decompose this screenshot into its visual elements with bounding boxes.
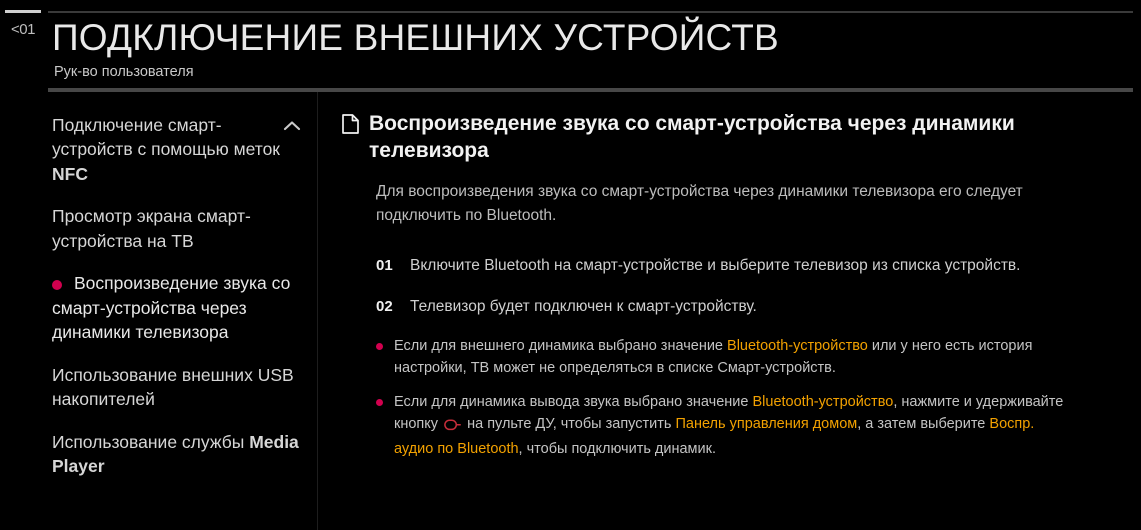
sidebar-item-1[interactable]: Подключение смарт-устройств с помощью ме… xyxy=(52,104,300,196)
sidebar-item-label: Использование внешних USB накопителей xyxy=(52,365,294,410)
numbered-steps: 01Включите Bluetooth на смарт-устройстве… xyxy=(376,254,1105,318)
back-chip-rule xyxy=(5,10,41,13)
article-content: Воспроизведение звука со смарт-устройств… xyxy=(318,92,1141,530)
remote-home-button-icon xyxy=(444,418,461,440)
highlighted-term: Bluetooth-устройство xyxy=(753,394,894,410)
page-title: ПОДКЛЮЧЕНИЕ ВНЕШНИХ УСТРОЙСТВ xyxy=(52,19,779,58)
step-item: 01Включите Bluetooth на смарт-устройстве… xyxy=(376,254,1105,277)
step-item: 02Телевизор будет подключен к смарт-устр… xyxy=(376,295,1105,318)
step-number: 02 xyxy=(376,295,396,318)
sidebar-item-5[interactable]: Использование службы Media Player xyxy=(52,421,300,488)
note-list: Если для внешнего динамика выбрано значе… xyxy=(376,336,1105,461)
note-bullet-dot xyxy=(376,343,383,350)
sidebar-nav[interactable]: устройствПодключение смарт-устройств с п… xyxy=(0,92,318,530)
back-nav-label: <01 xyxy=(11,21,35,38)
article-title: Воспроизведение звука со смарт-устройств… xyxy=(369,110,1069,164)
article-heading: Воспроизведение звука со смарт-устройств… xyxy=(342,110,1105,164)
back-navigation-chip[interactable]: <01 xyxy=(0,0,46,84)
sidebar-item-label: Подключение смарт-устройств с помощью ме… xyxy=(52,115,280,184)
note-item: Если для динамика вывода звука выбрано з… xyxy=(376,392,1105,461)
sidebar-item-list: устройствПодключение смарт-устройств с п… xyxy=(0,92,318,488)
sidebar-item-label: Использование службы Media Player xyxy=(52,432,299,477)
sidebar-item-3[interactable]: Воспроизведение звука со смарт-устройств… xyxy=(52,262,300,354)
highlighted-term: Панель управления домом xyxy=(675,416,857,432)
page-subtitle: Рук-во пользователя xyxy=(54,64,194,80)
active-item-dot xyxy=(52,280,62,290)
step-text: Телевизор будет подключен к смарт-устрой… xyxy=(410,295,757,318)
note-text: Если для внешнего динамика выбрано значе… xyxy=(394,336,1074,379)
note-item: Если для внешнего динамика выбрано значе… xyxy=(376,336,1105,379)
note-text: Если для динамика вывода звука выбрано з… xyxy=(394,392,1074,461)
header-top-divider xyxy=(48,11,1133,13)
sidebar-item-0[interactable]: устройств xyxy=(52,92,300,104)
sidebar-item-2[interactable]: Просмотр экрана смарт-устройства на ТВ xyxy=(52,195,300,262)
highlighted-term: Bluetooth-устройство xyxy=(727,338,868,354)
sidebar-item-label: Воспроизведение звука со смарт-устройств… xyxy=(52,273,290,342)
step-text: Включите Bluetooth на смарт-устройстве и… xyxy=(410,254,1020,277)
sidebar-item-4[interactable]: Использование внешних USB накопителей xyxy=(52,354,300,421)
page-header: ПОДКЛЮЧЕНИЕ ВНЕШНИХ УСТРОЙСТВ Рук-во пол… xyxy=(48,0,1133,90)
article-intro: Для воспроизведения звука со смарт-устро… xyxy=(376,180,1046,228)
step-number: 01 xyxy=(376,254,396,277)
note-bullet-dot xyxy=(376,399,383,406)
sidebar-item-label: Просмотр экрана смарт-устройства на ТВ xyxy=(52,206,251,251)
document-page-icon xyxy=(342,114,359,139)
